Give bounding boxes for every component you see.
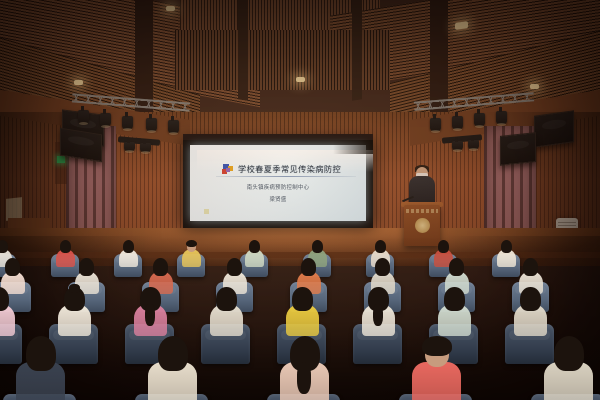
podium-text <box>406 209 438 213</box>
audience-member-hair <box>292 287 312 311</box>
projection-screen: 学校春夏季常见传染病防控 南头镇疾病预防控制中心 梁贤盛 <box>183 140 373 228</box>
audience-member-hair <box>216 287 236 311</box>
audience-member-hair <box>5 258 20 276</box>
audience-member-ponytail <box>297 362 312 394</box>
audience-member <box>56 284 93 334</box>
audience-member-hair <box>186 240 197 248</box>
audience-member-hair <box>501 240 512 254</box>
audience-member <box>132 284 169 334</box>
stage-light <box>122 116 133 129</box>
emergency-exit-sign <box>57 156 65 163</box>
stage-light <box>474 113 485 126</box>
audience-member <box>360 284 397 334</box>
audience-member <box>436 284 473 334</box>
audience-member-hair <box>438 240 449 254</box>
stage-light <box>168 120 179 133</box>
audience-member-hair <box>554 336 584 371</box>
stage-light <box>430 118 441 131</box>
audience-member-hair <box>444 287 464 311</box>
audience-area <box>0 236 600 400</box>
audience-member-hair <box>0 287 9 311</box>
slide-footer-mark <box>204 209 209 214</box>
audience-member-hair <box>79 258 94 276</box>
audience-member-hair <box>449 258 464 276</box>
screen-corner-shadow <box>333 140 373 154</box>
audience-member-hair <box>26 336 56 371</box>
audience-member-hair <box>312 240 323 254</box>
audience-member-hair <box>153 258 168 276</box>
audience-member <box>496 238 517 266</box>
audience-member-ponytail <box>145 304 155 326</box>
audience-member-hair <box>422 336 452 356</box>
audience-member-hair <box>227 258 242 276</box>
ceiling-light <box>74 80 83 85</box>
stage-light <box>146 118 157 131</box>
audience-member-hair <box>523 258 538 276</box>
podium-emblem <box>415 218 430 233</box>
loudspeaker <box>500 132 536 166</box>
audience-member-hair <box>0 240 8 254</box>
audience-member <box>512 284 549 334</box>
stage-light <box>496 111 507 124</box>
audience-member <box>542 332 596 400</box>
loudspeaker <box>534 110 574 148</box>
audience-member <box>284 284 321 334</box>
stage-light <box>452 141 463 150</box>
stage-light <box>468 140 479 149</box>
audience-member <box>118 238 139 266</box>
stage-light <box>78 110 89 123</box>
ceiling-beam <box>352 0 362 101</box>
audience-member-hair <box>375 258 390 276</box>
ceiling-beam <box>238 0 248 101</box>
audience-member <box>278 332 332 400</box>
stage-light <box>124 142 135 151</box>
audience-member-hair <box>249 240 260 254</box>
stage-light <box>140 143 151 152</box>
presentation-slide: 学校春夏季常见传染病防控 南头镇疾病预防控制中心 梁贤盛 <box>190 145 366 221</box>
stage-light <box>452 116 463 129</box>
ceiling-light <box>166 6 175 11</box>
audience-member-hair <box>123 240 134 254</box>
audience-member <box>0 284 17 334</box>
ceiling-light <box>530 84 539 89</box>
stage-light <box>100 113 111 126</box>
slide-logo-icon <box>222 164 234 176</box>
audience-member <box>181 238 202 266</box>
audience-member-hair <box>158 336 188 371</box>
audience-member-torso <box>182 249 201 267</box>
audience-member-torso <box>412 362 461 400</box>
audience-member <box>14 332 68 400</box>
audience-member-ponytail <box>373 304 383 326</box>
ceiling-light <box>296 77 305 82</box>
slide-title: 学校春夏季常见传染病防控 <box>238 163 360 175</box>
slide-speaker-name: 梁贤盛 <box>190 195 366 203</box>
audience-member-hair <box>520 287 540 311</box>
auditorium-photo: 学校春夏季常见传染病防控 南头镇疾病预防控制中心 梁贤盛 <box>0 0 600 400</box>
audience-member-ponytail <box>69 284 80 293</box>
audience-member <box>410 332 464 400</box>
audience-member-hair <box>301 258 316 276</box>
audience-member-hair <box>60 240 71 254</box>
slide-title-rule <box>216 176 356 177</box>
slide-organization: 南头镇疾病预防控制中心 <box>190 183 366 191</box>
audience-member <box>208 284 245 334</box>
audience-member <box>146 332 200 400</box>
audience-member-hair <box>375 240 386 254</box>
